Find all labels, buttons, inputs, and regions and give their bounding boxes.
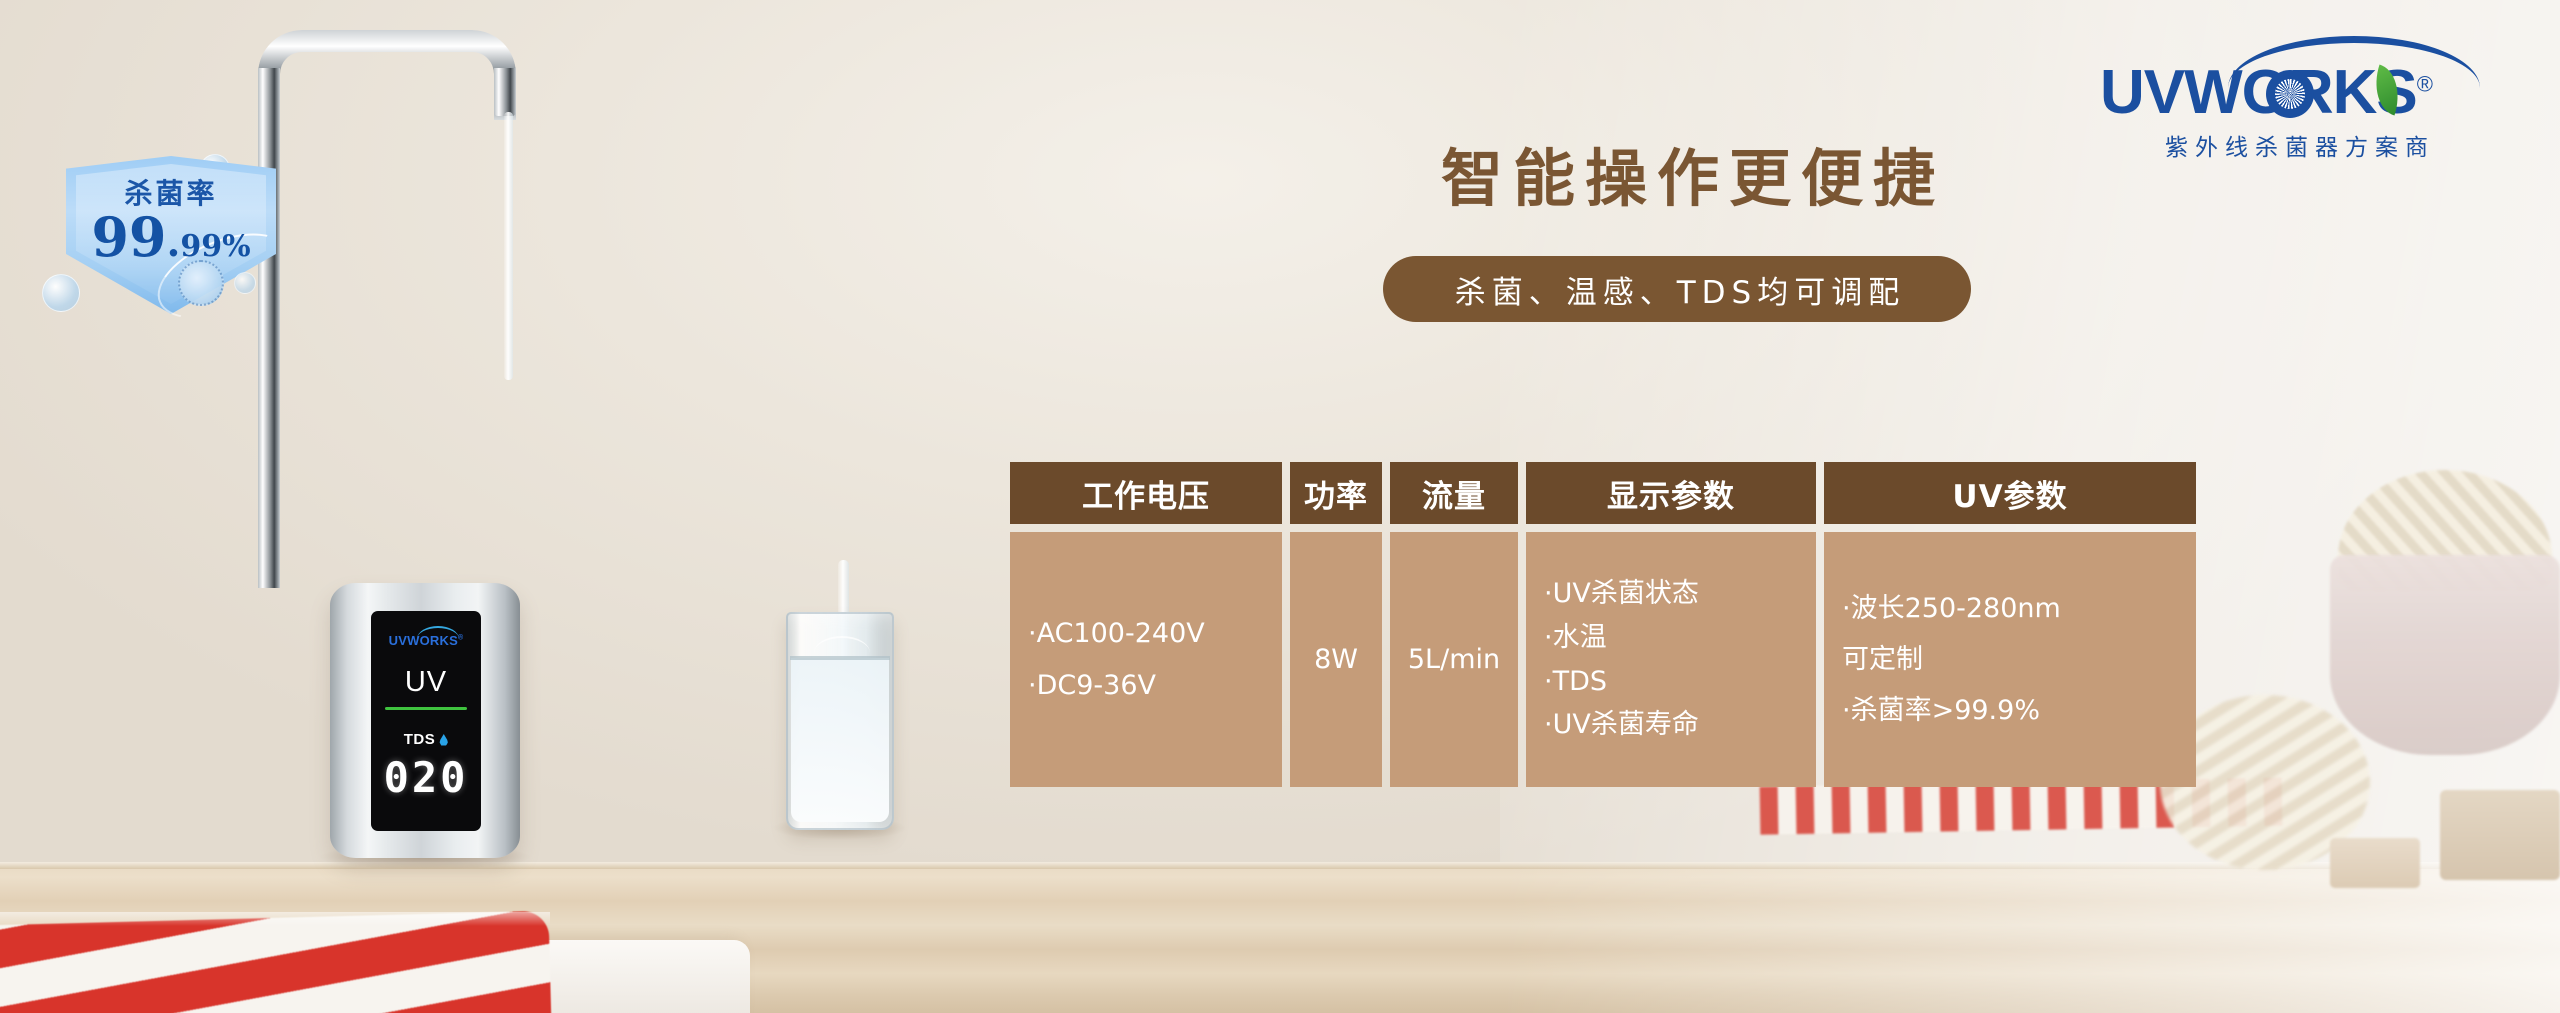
spec-column-uv-params: UV参数 ·波长250-280nm 可定制 ·杀菌率>99.9% (1824, 462, 2196, 787)
spec-line: ·水温 (1544, 616, 1607, 660)
wooden-block-prop (2440, 790, 2560, 880)
logo-registered-mark: ® (2417, 71, 2432, 96)
badge-value-dot: . (166, 219, 180, 266)
sterilization-rate-badge: 杀菌率 99.99% (38, 148, 306, 318)
uv-sterilizer-device: UVWORKS® UV TDS 020 (330, 583, 520, 858)
faucet-vertical-pipe (258, 68, 280, 588)
headline-title: 智能操作更便捷 (1368, 128, 2008, 218)
spec-line: 8W (1314, 638, 1358, 682)
spec-line: 可定制 (1842, 634, 1923, 685)
device-status-bar (385, 707, 467, 710)
faucet-spout (494, 68, 516, 116)
badge-value-integer: 99 (91, 205, 166, 269)
water-glass (786, 612, 894, 830)
ceramic-bowl-prop (2330, 555, 2560, 755)
spec-table: 工作电压 ·AC100-240V ·DC9-36V 功率 8W 流量 5L/mi… (1010, 462, 2312, 787)
tds-text: TDS (404, 731, 436, 748)
spec-cell-power: 8W (1290, 532, 1382, 787)
brand-logo: UVWORKS® 紫外线杀菌器方案商 (2100, 32, 2500, 152)
spec-line: ·UV杀菌状态 (1544, 572, 1699, 616)
spec-header-power: 功率 (1290, 462, 1382, 524)
faucet-arm (258, 30, 516, 120)
spec-line: ·UV杀菌寿命 (1544, 703, 1699, 747)
glass-water-fill (791, 658, 889, 822)
device-logo-registered: ® (458, 635, 463, 642)
red-white-cloth-prop (0, 911, 551, 1013)
logo-word-text: UVWORKS (2100, 58, 2417, 127)
spec-line: ·杀菌率>99.9% (1842, 685, 2040, 736)
bubble-icon (42, 274, 80, 312)
badge-value: 99.99% (66, 210, 276, 264)
device-mode-label: UV (371, 666, 481, 699)
wooden-block-prop (2330, 838, 2420, 888)
spec-cell-voltage: ·AC100-240V ·DC9-36V (1010, 532, 1282, 787)
device-screen-logo: UVWORKS® (371, 633, 481, 648)
device-tds-label: TDS (371, 731, 481, 748)
water-splash (814, 636, 870, 670)
spec-header-uv-params: UV参数 (1824, 462, 2196, 524)
spec-header-voltage: 工作电压 (1010, 462, 1282, 524)
device-logo-text: UVWORKS (389, 633, 458, 648)
spec-line: ·波长250-280nm (1842, 583, 2061, 634)
spec-column-power: 功率 8W (1290, 462, 1382, 787)
spec-column-display-params: 显示参数 ·UV杀菌状态 ·水温 ·TDS ·UV杀菌寿命 (1526, 462, 1816, 787)
bubble-icon (234, 272, 256, 294)
spec-cell-flow: 5L/min (1390, 532, 1518, 787)
spec-header-display-params: 显示参数 (1526, 462, 1816, 524)
water-stream-upper (504, 112, 513, 380)
badge-value-decimal: 99% (180, 229, 250, 264)
logo-subtitle: 紫外线杀菌器方案商 (2100, 128, 2500, 162)
cloth-highlight (0, 912, 550, 926)
device-display-screen: UVWORKS® UV TDS 020 (371, 611, 481, 831)
spec-cell-uv-params: ·波长250-280nm 可定制 ·杀菌率>99.9% (1824, 532, 2196, 787)
device-tds-value: 020 (371, 757, 481, 799)
spec-line: ·TDS (1544, 660, 1607, 704)
water-drop-icon (439, 734, 448, 746)
spec-column-flow: 流量 5L/min (1390, 462, 1518, 787)
spec-column-voltage: 工作电压 ·AC100-240V ·DC9-36V (1010, 462, 1282, 787)
spec-line: ·AC100-240V (1028, 608, 1205, 659)
spec-header-flow: 流量 (1390, 462, 1518, 524)
feature-pill: 杀菌、温感、TDS均可调配 (1383, 256, 1971, 322)
product-banner: 杀菌率 99.99% UVWORKS® UV TDS 020 UVWORKS® … (0, 0, 2560, 1013)
spec-line: 5L/min (1408, 638, 1500, 682)
spec-cell-display-params: ·UV杀菌状态 ·水温 ·TDS ·UV杀菌寿命 (1526, 532, 1816, 787)
sun-burst-icon (2266, 70, 2314, 118)
spec-line: ·DC9-36V (1028, 660, 1156, 711)
